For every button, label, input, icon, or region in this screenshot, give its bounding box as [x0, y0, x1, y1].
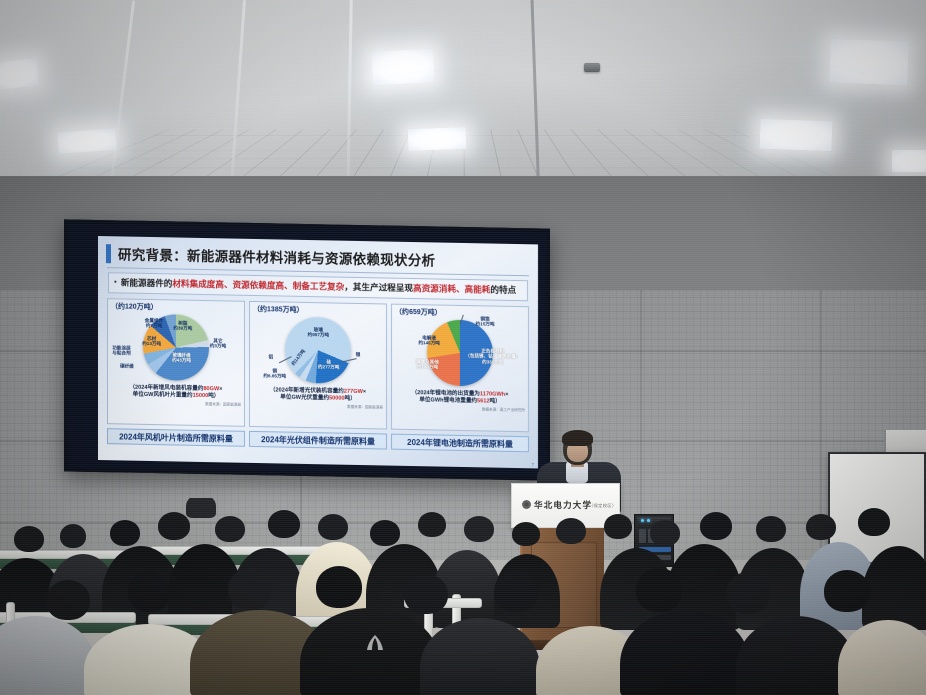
pie-source-3: 数据来源：高工产业研究所: [395, 406, 525, 413]
audience-head: [756, 516, 786, 542]
audience-head: [700, 512, 732, 540]
audience-head: [650, 520, 680, 546]
pie-caption-lithium-battery: 2024年锂电池制造所需原料量: [391, 434, 529, 453]
pie-card-lithium-battery: （约659万吨） 正负极材料（包括锂、钴、镍等金属）约333万吨 隔膜及其他约1…: [391, 304, 529, 433]
smoke-detector-icon: [584, 63, 600, 72]
audience-hat: [186, 498, 216, 518]
ceiling-light-panel: [57, 128, 116, 154]
audience-head: [556, 518, 586, 544]
pie-note-num2: 50000: [329, 396, 345, 402]
audience-head: [512, 522, 540, 546]
ceiling-light-panel: [759, 119, 832, 151]
audience-head: [128, 572, 170, 612]
bullet-seg-3: ，其生产过程呈现: [344, 282, 413, 293]
audience-person-front: [838, 620, 926, 695]
pie-card-pv-module: （约1385万吨） 玻璃约957万吨 硅约277万吨 约14万吨 铝 铜约6.6…: [249, 301, 387, 430]
pie-note-line2: 单位GWh锂电池重量约: [419, 398, 477, 405]
pie-source-1: 数据来源：国家能源局: [111, 400, 241, 407]
audience-head: [636, 568, 682, 612]
bullet-seg-2-highlight: 材料集成度高、资源依赖度高、制备工艺复杂: [172, 278, 344, 291]
pie-note-num1: 1170GWh: [480, 391, 505, 397]
pie-note-num2: 5612: [477, 399, 489, 405]
presentation-slide: 研究背景：新能源器件材料消耗与资源依赖现状分析 • 新能源器件的材料集成度高、资…: [98, 236, 538, 468]
ceiling: [0, 0, 926, 200]
audience-head: [726, 572, 770, 614]
pie-note-num1: 80GW: [203, 386, 219, 392]
speaker-hair: [562, 430, 593, 446]
bullet-seg-4-highlight: 高资源消耗、高能耗: [413, 283, 490, 294]
audience-head: [604, 514, 632, 539]
projection-screen[interactable]: 研究背景：新能源器件材料消耗与资源依赖现状分析 • 新能源器件的材料集成度高、资…: [64, 219, 550, 480]
audience-head: [14, 526, 44, 552]
pie-note-end: 吨）: [490, 399, 501, 405]
pie-caption-pv-module: 2024年光伏组件制造所需原料量: [249, 431, 387, 450]
ceiling-light-panel: [408, 127, 467, 151]
audience-head: [215, 516, 245, 542]
title-accent-bar: [106, 244, 111, 263]
bullet-seg-5: 的特点: [490, 285, 516, 295]
pie-note-num1: 277GW: [344, 389, 363, 395]
audience-head: [404, 574, 448, 614]
audience-head: [418, 512, 446, 537]
audience-person-front: [420, 618, 540, 695]
audience-head: [316, 566, 362, 608]
pie-note-mid: ×: [219, 386, 222, 392]
audience-head: [494, 570, 538, 612]
pie-card-wind-blade: （约120万吨） 树脂约39万吨 玻璃纤维约43万吨 芯材约13万吨 金属组件约…: [107, 298, 245, 427]
audience-head: [824, 570, 870, 612]
pie-note-wind-blade: （2024年新增风电装机容量约80GW× 单位GW风机叶片重量约15000吨）: [111, 384, 241, 401]
audience-head: [228, 568, 272, 610]
audience-head: [46, 580, 90, 620]
lecture-hall-scene: 研究背景：新能源器件材料消耗与资源依赖现状分析 • 新能源器件的材料集成度高、资…: [0, 0, 926, 695]
audience-head: [60, 524, 86, 548]
pie-caption-row: 2024年风机叶片制造所需原料量 2024年光伏组件制造所需原料量 2024年锂…: [107, 428, 529, 452]
pie-note-pv-module: （2024年新增光伏装机容量约277GW× 单位GW光伏重量约50000吨）: [253, 387, 383, 404]
audience-head: [268, 510, 300, 538]
pie-note-line2: 单位GW风机叶片重量约: [133, 392, 193, 399]
pie-note-num2: 15000: [193, 393, 209, 399]
bullet-marker: •: [114, 276, 117, 288]
audience-head: [806, 514, 836, 540]
pie-note-end: 吨）: [345, 396, 356, 402]
ceiling-light-panel: [829, 39, 908, 86]
audience-head: [370, 520, 400, 546]
audience-head: [318, 514, 348, 540]
ceiling-light-panel: [371, 48, 435, 85]
pie-note-lithium-battery: （2024年锂电池的出货量为1170GWh× 单位GWh锂电池重量约5612吨）: [395, 390, 525, 407]
bullet-seg-1: 新能源器件的: [121, 277, 173, 288]
audience-area: [0, 498, 926, 695]
bullet-box: • 新能源器件的材料集成度高、资源依赖度高、制备工艺复杂，其生产过程呈现高资源消…: [108, 272, 528, 301]
pie-note-mid: ×: [363, 389, 366, 395]
slide-page-number: 7: [531, 462, 534, 467]
audience-head: [858, 508, 890, 536]
audience-person: [862, 546, 926, 630]
audience-head: [110, 520, 140, 546]
slide-title: 研究背景：新能源器件材料消耗与资源依赖现状分析: [118, 243, 435, 269]
audience-head: [158, 512, 190, 540]
audience-head: [464, 516, 494, 542]
jacket-logo-icon: [362, 634, 375, 643]
pie-note-end: 吨）: [208, 394, 219, 400]
pie-chart-row: （约120万吨） 树脂约39万吨 玻璃纤维约43万吨 芯材约13万吨 金属组件约…: [107, 298, 529, 432]
pie-caption-wind-blade: 2024年风机叶片制造所需原料量: [107, 428, 245, 447]
bullet-text: 新能源器件的材料集成度高、资源依赖度高、制备工艺复杂，其生产过程呈现高资源消耗、…: [121, 276, 516, 296]
pie-note-mid: ×: [505, 392, 508, 398]
ceiling-light-panel: [892, 150, 926, 172]
pie-note-line2: 单位GW光伏重量约: [280, 395, 329, 402]
ceiling-light-panel: [0, 58, 39, 90]
